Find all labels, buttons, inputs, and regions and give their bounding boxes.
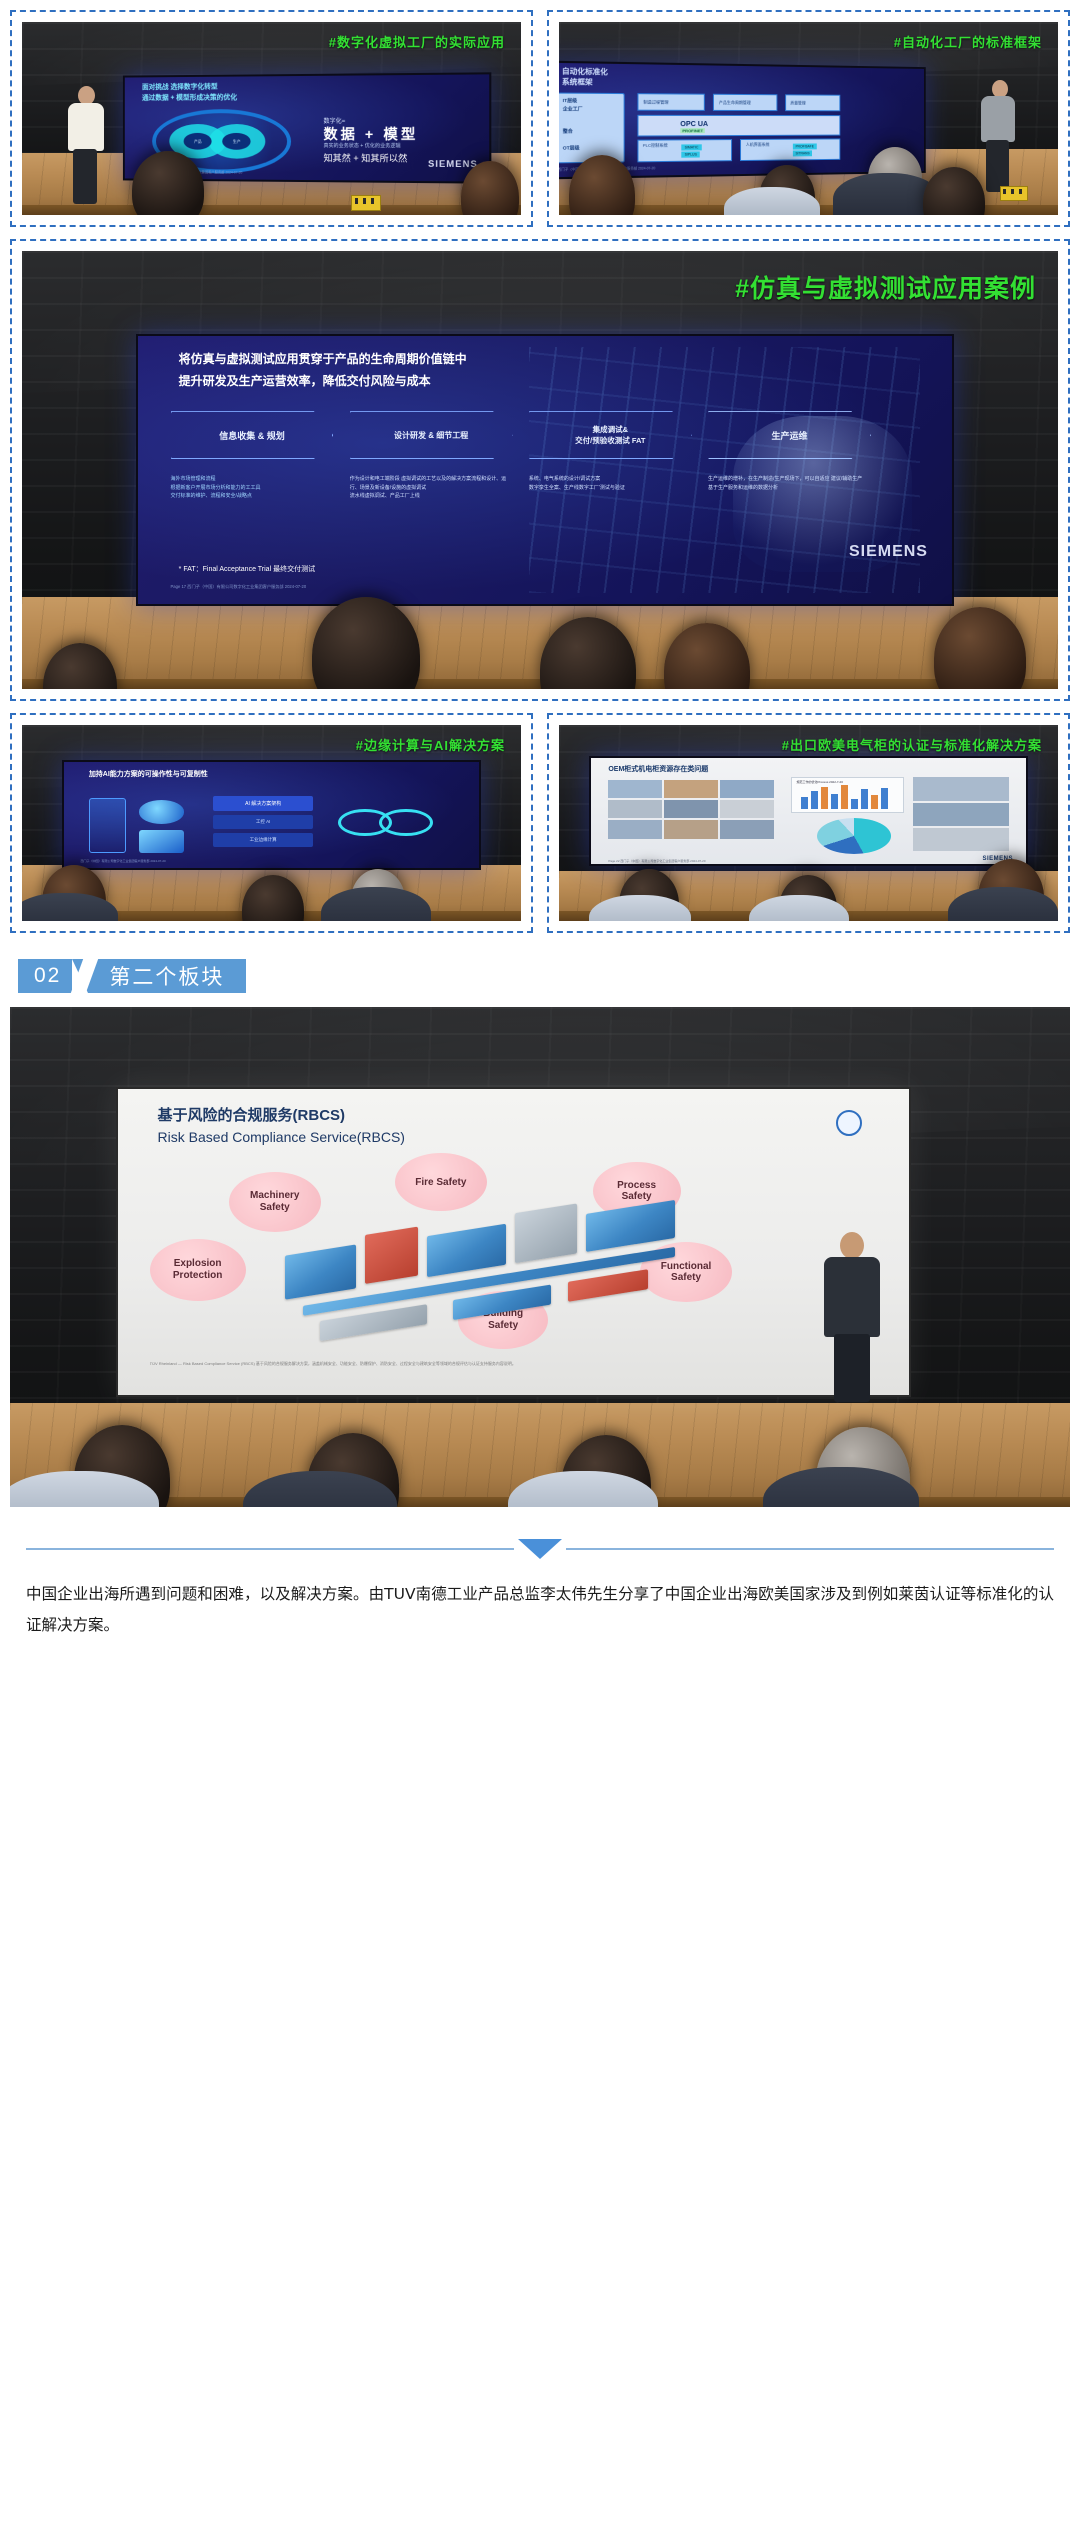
thumbnail: [913, 828, 1009, 851]
section-title: 第二个板块: [101, 959, 246, 993]
bullet-item: 流水线虚拟调试、产品工厂上线: [350, 492, 513, 501]
bullet-item: 系统、电气系统的设计/调试方案: [529, 475, 692, 484]
panel-row-top: #数字化虚拟工厂的实际应用 面对挑战 选择数字化转型 通过数据 + 模型形成决策…: [0, 0, 1080, 227]
rbcs-title-en: Risk Based Compliance Service(RBCS): [158, 1129, 405, 1145]
thumbnail: [720, 820, 774, 838]
led-screen-edge-ai: 加持AI能力方案的可操作性与可复制性 AI 解决方案架构 工控 AI 工业边缘计…: [62, 760, 481, 870]
bullet-item: 数字孪生全案、生产线数字工厂'测试与验证: [529, 484, 692, 493]
slide-title-line2: 系统框架: [562, 79, 593, 89]
label-merge: 整合: [563, 128, 573, 134]
panel-row-hero: #仿真与虚拟测试应用案例 将仿真与虚拟测试应用贯穿于产品的生命周期价值链中 提升…: [0, 227, 1080, 701]
caption-simulation-case: #仿真与虚拟测试应用案例: [735, 269, 1036, 305]
photo-rbcs: 基于风险的合规服务(RBCS) Risk Based Compliance Se…: [10, 1007, 1070, 1507]
bullet-item: 生产运维的增补，在生产制造/生产现场下，可以自适应 建议/辅助生产: [708, 475, 879, 484]
speaker-legs: [73, 149, 97, 204]
thumbnail: [720, 800, 774, 818]
photo-simulation-case: #仿真与虚拟测试应用案例 将仿真与虚拟测试应用贯穿于产品的生命周期价值链中 提升…: [22, 251, 1058, 689]
presenter-head: [840, 1232, 864, 1259]
speaker-head: [78, 86, 95, 105]
venn-label-production: 生产: [222, 133, 251, 150]
section-divider: [0, 1525, 1080, 1571]
tag-siplus: SIPLUS: [682, 152, 701, 158]
thumbnail: [913, 777, 1009, 800]
siemens-logo: SIEMENS: [849, 543, 928, 561]
machine-unit: [427, 1224, 507, 1278]
speaker-legs: [986, 140, 1009, 192]
it-ot-column: IT层级 企业工厂 整合 OT层级: [559, 93, 625, 164]
speaker-torso: [68, 103, 104, 151]
fat-footnote: * FAT：Final Acceptance Trial 最终交付测试: [179, 564, 315, 574]
bar: [851, 799, 858, 809]
floor-sign: [1000, 186, 1028, 201]
floor-sign: [351, 195, 381, 211]
photo-panel-digital-factory: #数字化虚拟工厂的实际应用 面对挑战 选择数字化转型 通过数据 + 模型形成决策…: [10, 10, 533, 227]
box-mes: 制造过程管理: [637, 94, 705, 112]
photo-panel-edge-ai: #边缘计算与AI解决方案 加持AI能力方案的可操作性与可复制性 AI 解决方案架…: [10, 713, 533, 933]
tag-profisafe: PROFISAFE: [793, 144, 817, 150]
thumbnail: [913, 803, 1009, 826]
bar: [821, 787, 828, 809]
bar: [861, 789, 868, 809]
slide-footnote: Page 22 西门子（中国）有限公司数字化工业集团客户服务部 2024-07-…: [608, 859, 705, 863]
divider-line-left: [26, 1548, 514, 1550]
slide-sub1: 真实的业务状态 + 优化的业务逻辑: [323, 142, 400, 149]
thumbnail: [664, 820, 718, 838]
right-thumbnail-stack: [913, 777, 1009, 851]
tag-industrial-ai: 工控 AI: [213, 815, 313, 829]
presenter-figure: [816, 1232, 890, 1402]
caption-digital-factory: #数字化虚拟工厂的实际应用: [329, 32, 505, 51]
slide-footnote: Page 17 西门子（中国）有限公司数字化工业集团客户服务部 2024-07-…: [171, 584, 307, 590]
stage-chip-2: 设计研发 & 细节工程: [350, 411, 513, 459]
bullet-item: 海外市场管理和流程: [171, 475, 334, 484]
slide-footnote: 西门子（中国）有限公司数字化工业集团客户服务部 2024-07-20: [81, 859, 166, 863]
slide-title-line2: 通过数据 + 模型形成决策的优化: [142, 94, 237, 103]
thumbnail: [664, 800, 718, 818]
rbcs-title-cn: 基于风险的合规服务(RBCS): [158, 1104, 346, 1125]
slide-title-line1: 自动化标准化: [562, 69, 608, 79]
slide-sub2: 知其然 + 知其所以然: [323, 151, 407, 165]
tag-sitrans: SITRANS: [793, 151, 813, 157]
photo-automation-framework: #自动化工厂的标准框架 自动化标准化 系统框架 IT层级 企业工厂 整合 OT层…: [559, 22, 1058, 215]
slide-title: OEM柜式机电柜资源存在类问题: [608, 764, 708, 774]
bar-chart: 规范工作的优化Process 2022-7-20: [791, 777, 904, 813]
photo-edge-ai: #边缘计算与AI解决方案 加持AI能力方案的可操作性与可复制性 AI 解决方案架…: [22, 725, 521, 921]
speaker-figure: [62, 86, 118, 204]
bullet-col-2: 作为设计和电工端阶段 虚拟调试的工艺以及的解决方案流程和设计、运行、场景及新设备…: [350, 475, 513, 501]
tag-edge-compute: 工业边缘计算: [213, 833, 313, 847]
machine-unit: [285, 1245, 356, 1300]
bullet-item: 基于生产服务和运维的数据分析: [708, 484, 879, 493]
led-screen-certification: OEM柜式机电柜资源存在类问题: [589, 756, 1028, 866]
closing-paragraph: 中国企业出海所遇到问题和困难，以及解决方案。由TUV南德工业产品总监李太伟先生分…: [0, 1571, 1080, 1675]
slide-title: 加持AI能力方案的可操作性与可复制性: [89, 771, 208, 780]
rbcs-footer-note: TÜV Rheinland — Risk Based Compliance Se…: [150, 1361, 878, 1383]
thumbnail: [664, 780, 718, 798]
thumbnail: [608, 820, 662, 838]
rbcs-panel-wrap: 基于风险的合规服务(RBCS) Risk Based Compliance Se…: [0, 1007, 1080, 1507]
thumbnail-grid: [608, 780, 773, 839]
tag-simatic: SIMATIC: [682, 145, 702, 151]
caption-automation-framework: #自动化工厂的标准框架: [894, 32, 1042, 51]
led-screen-rbcs: 基于风险的合规服务(RBCS) Risk Based Compliance Se…: [116, 1087, 911, 1397]
machine-unit: [365, 1226, 418, 1284]
venn-label-product: 产品: [184, 133, 212, 149]
bar: [881, 788, 888, 809]
caption-export-certification: #出口欧美电气柜的认证与标准化解决方案: [782, 735, 1042, 754]
bullet-item: 作为设计和电工端阶段 虚拟调试的工艺以及的解决方案流程和设计、运行、场景及新设备…: [350, 475, 513, 492]
box-plc: PLC控制系统 SIMATIC SIPLUS: [637, 140, 732, 163]
box-qms: 质量管理: [785, 95, 840, 112]
article-page: #数字化虚拟工厂的实际应用 面对挑战 选择数字化转型 通过数据 + 模型形成决策…: [0, 0, 1080, 1675]
divider-line-right: [566, 1548, 1054, 1550]
stage-chip-4: 生产运维: [708, 411, 871, 459]
ai-solution-label: AI 解决方案架构: [213, 796, 313, 811]
bullet-col-1: 海外市场管理和流程 根据新客户开展市场分析和能力的工工具 交付标准的维护、流程和…: [171, 475, 334, 501]
divider-arrow-icon: [518, 1539, 562, 1559]
bullet-item: 根据新客户开展市场分析和能力的工工具: [171, 484, 334, 493]
section-header-wrap: 02 第二个板块: [0, 933, 1080, 1007]
machine-unit: [453, 1284, 550, 1320]
slide-title-line1: 面对挑战 选择数字化转型: [142, 84, 218, 93]
thumbnail: [608, 780, 662, 798]
thumbnail: [608, 800, 662, 818]
siemens-logo: SIEMENS: [428, 158, 478, 169]
hero-slide-title-line2: 提升研发及生产运营效率，降低交付风险与成本: [179, 374, 431, 389]
box-plm: 产品生命周期管理: [713, 94, 778, 112]
section-number: 02: [18, 959, 75, 993]
machine-unit: [515, 1204, 577, 1264]
photo-panel-simulation-case: #仿真与虚拟测试应用案例 将仿真与虚拟测试应用贯穿于产品的生命周期价值链中 提升…: [10, 239, 1070, 701]
presenter-legs: [834, 1334, 870, 1402]
label-ot: OT层级: [563, 146, 580, 152]
caption-edge-ai: #边缘计算与AI解决方案: [356, 735, 505, 754]
led-screen-hero: 将仿真与虚拟测试应用贯穿于产品的生命周期价值链中 提升研发及生产运营效率，降低交…: [136, 334, 954, 606]
thumbnail: [720, 780, 774, 798]
photo-digital-factory: #数字化虚拟工厂的实际应用 面对挑战 选择数字化转型 通过数据 + 模型形成决策…: [22, 22, 521, 215]
tuv-badge-icon: [836, 1110, 862, 1136]
bar: [841, 785, 848, 809]
speaker-torso: [981, 96, 1015, 142]
section-slash-icon: [75, 959, 101, 993]
tag-profinet: PROFINET: [680, 128, 705, 133]
bullet-item: 交付标准的维护、流程和安全/战略点: [171, 492, 334, 501]
photo-panel-automation-framework: #自动化工厂的标准框架 自动化标准化 系统框架 IT层级 企业工厂 整合 OT层…: [547, 10, 1070, 227]
gear-icon: [139, 800, 185, 823]
icon-column: [89, 798, 126, 853]
stage-chip-1: 信息收集 & 规划: [171, 411, 334, 459]
bullet-col-4: 生产运维的增补，在生产制造/生产现场下，可以自适应 建议/辅助生产 基于生产服务…: [708, 475, 879, 492]
section-header-02: 02 第二个板块: [18, 959, 246, 993]
bar: [811, 791, 818, 809]
box-hmi: 人机界面系统 PROFISAFE SITRANS: [740, 139, 840, 161]
hero-slide-title-line1: 将仿真与虚拟测试应用贯穿于产品的生命周期价值链中: [179, 352, 467, 367]
blob-explosion-protection: Explosion Protection: [150, 1239, 246, 1301]
presenter-torso: [824, 1257, 880, 1337]
bullet-col-3: 系统、电气系统的设计/调试方案 数字孪生全案、生产线数字工厂'测试与验证: [529, 475, 692, 492]
photo-export-certification: #出口欧美电气柜的认证与标准化解决方案 OEM柜式机电柜资源存在类问题: [559, 725, 1058, 921]
speaker-figure: [976, 80, 1028, 192]
panel-row-bottom: #边缘计算与AI解决方案 加持AI能力方案的可操作性与可复制性 AI 解决方案架…: [0, 701, 1080, 933]
label-it: IT层级: [563, 98, 577, 104]
machine-unit: [569, 1269, 649, 1302]
chip-icon: [139, 830, 185, 853]
machine-unit: [586, 1200, 675, 1252]
bar: [801, 797, 808, 809]
stage-lip: [22, 205, 521, 215]
label-it2: 企业工厂: [563, 106, 583, 112]
protocol-band: OPC UA PROFINET: [637, 115, 840, 137]
bar: [871, 795, 878, 809]
photo-panel-export-certification: #出口欧美电气柜的认证与标准化解决方案 OEM柜式机电柜资源存在类问题: [547, 713, 1070, 933]
bar: [831, 794, 838, 809]
pie-chart: [817, 818, 891, 854]
stage-chip-3: 集成调试& 交付/预验收测试 FAT: [529, 411, 692, 459]
